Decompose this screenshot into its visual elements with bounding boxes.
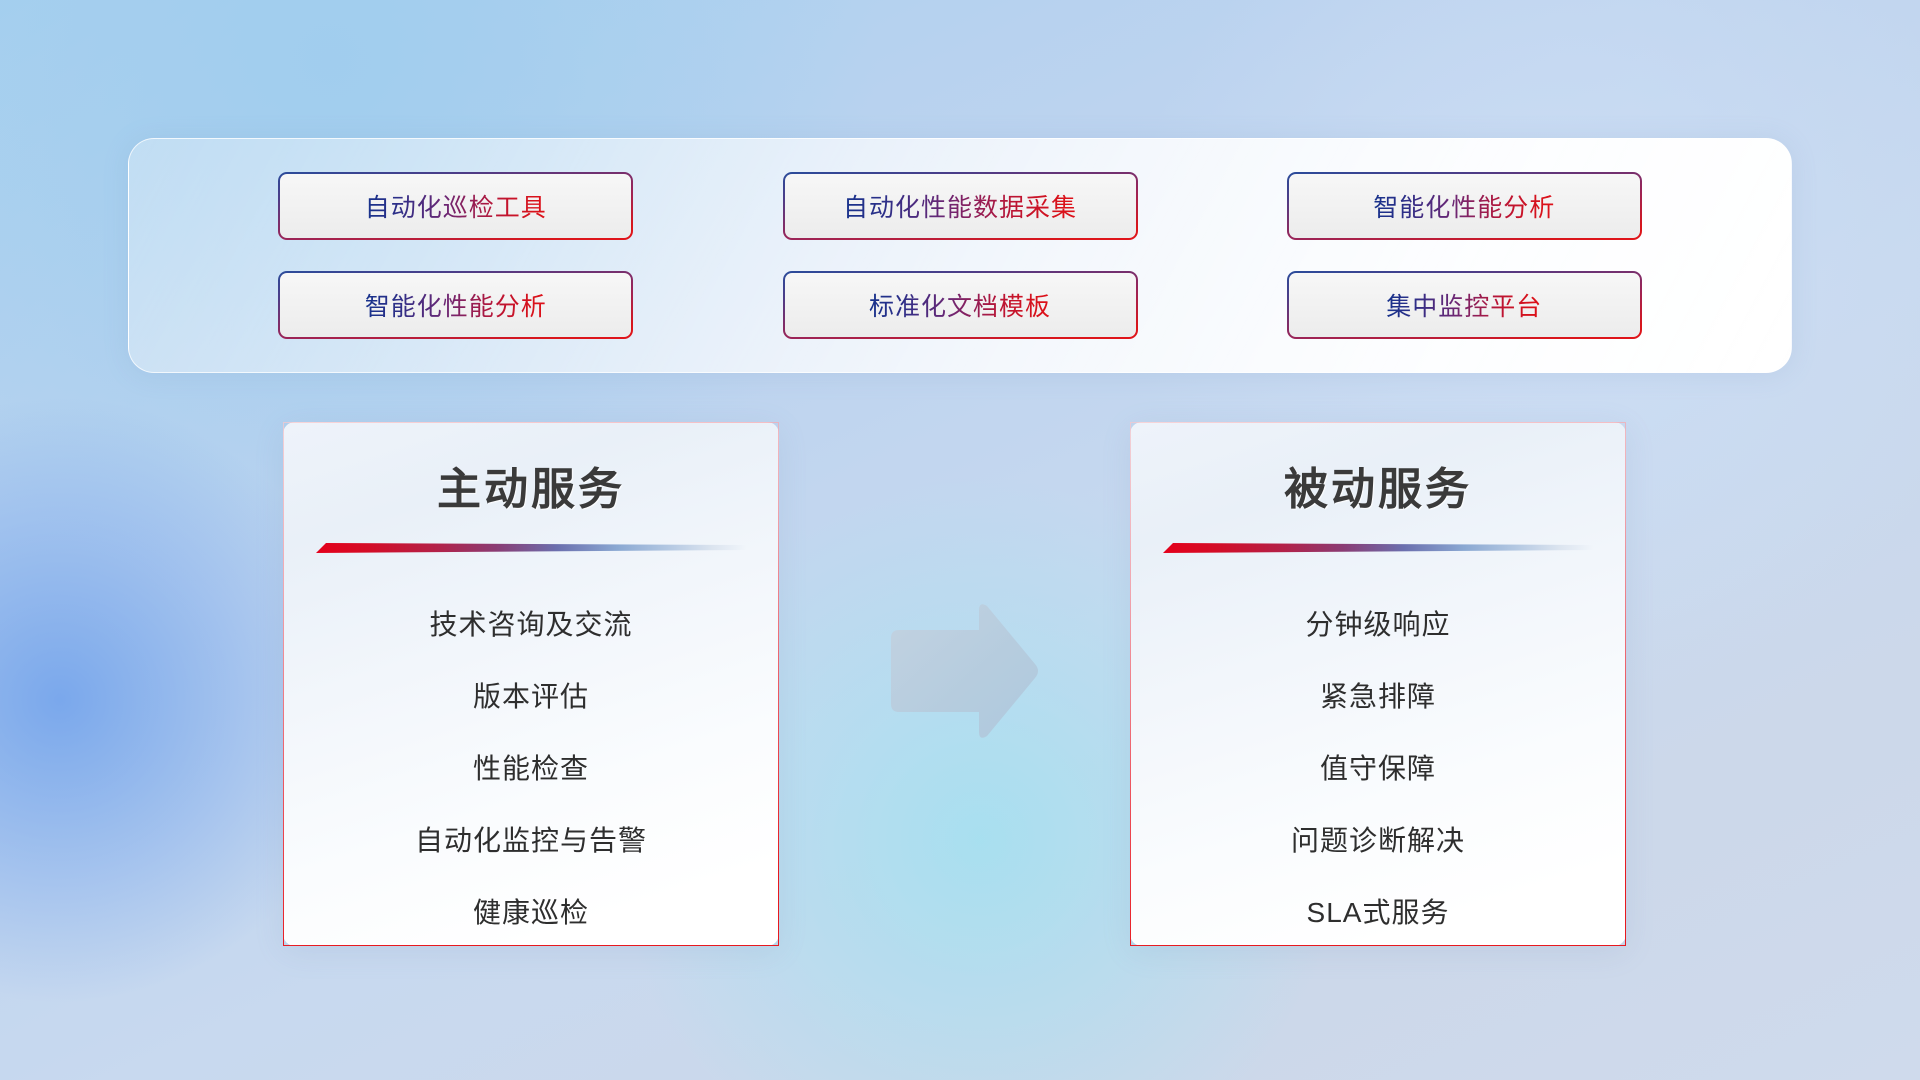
service-item: 版本评估	[473, 661, 589, 733]
slide-canvas: 自动化巡检工具 自动化性能数据采集 智能化性能分析 智能化性能分析	[0, 0, 1920, 1080]
service-item: 性能检查	[473, 733, 589, 805]
service-item: 自动化监控与告警	[415, 805, 647, 877]
capability-tags-grid: 自动化巡检工具 自动化性能数据采集 智能化性能分析 智能化性能分析	[129, 139, 1791, 372]
capability-tag[interactable]: 集中监控平台	[1287, 271, 1642, 339]
service-item: SLA式服务	[1307, 877, 1450, 949]
arrow-right-icon	[883, 600, 1041, 742]
service-card-title: 被动服务	[1131, 453, 1625, 517]
capability-tag-inner: 标准化文档模板	[785, 273, 1136, 337]
capability-tag[interactable]: 标准化文档模板	[783, 271, 1138, 339]
capability-tag-inner: 智能化性能分析	[280, 273, 631, 337]
capability-tag-inner: 集中监控平台	[1289, 273, 1640, 337]
service-item-list: 技术咨询及交流 版本评估 性能检查 自动化监控与告警 健康巡检	[284, 589, 778, 949]
capability-tag[interactable]: 智能化性能分析	[1287, 172, 1642, 240]
capability-tag[interactable]: 自动化巡检工具	[278, 172, 633, 240]
service-item: 紧急排障	[1320, 661, 1436, 733]
card-divider-bar	[316, 543, 746, 553]
capability-tag[interactable]: 智能化性能分析	[278, 271, 633, 339]
capability-tag-inner: 智能化性能分析	[1289, 174, 1640, 238]
service-item: 问题诊断解决	[1291, 805, 1465, 877]
capability-tags-panel: 自动化巡检工具 自动化性能数据采集 智能化性能分析 智能化性能分析	[128, 138, 1792, 373]
service-card-active: 主动服务 技术咨询及交流 版本评估 性能检查 自动化监控与告警 健康巡检	[283, 422, 779, 946]
service-item: 值守保障	[1320, 733, 1436, 805]
capability-tag-label: 智能化性能分析	[365, 287, 547, 323]
capability-tag[interactable]: 自动化性能数据采集	[783, 172, 1138, 240]
card-divider	[316, 543, 746, 553]
service-item: 健康巡检	[473, 877, 589, 949]
service-item: 技术咨询及交流	[429, 589, 632, 661]
service-item: 分钟级响应	[1305, 589, 1450, 661]
service-item-list: 分钟级响应 紧急排障 值守保障 问题诊断解决 SLA式服务	[1131, 589, 1625, 949]
card-divider-bar	[1163, 543, 1593, 553]
capability-tag-inner: 自动化巡检工具	[280, 174, 631, 238]
capability-tag-label: 智能化性能分析	[1373, 188, 1555, 224]
capability-tag-label: 标准化文档模板	[869, 287, 1051, 323]
capability-tag-label: 集中监控平台	[1386, 287, 1542, 323]
capability-tag-label: 自动化巡检工具	[365, 188, 547, 224]
service-card-passive: 被动服务 分钟级响应 紧急排障 值守保障 问题诊断解决 SLA式服务	[1130, 422, 1626, 946]
capability-tag-label: 自动化性能数据采集	[843, 188, 1077, 224]
card-divider	[1163, 543, 1593, 553]
service-card-title: 主动服务	[284, 453, 778, 517]
capability-tag-inner: 自动化性能数据采集	[785, 174, 1136, 238]
